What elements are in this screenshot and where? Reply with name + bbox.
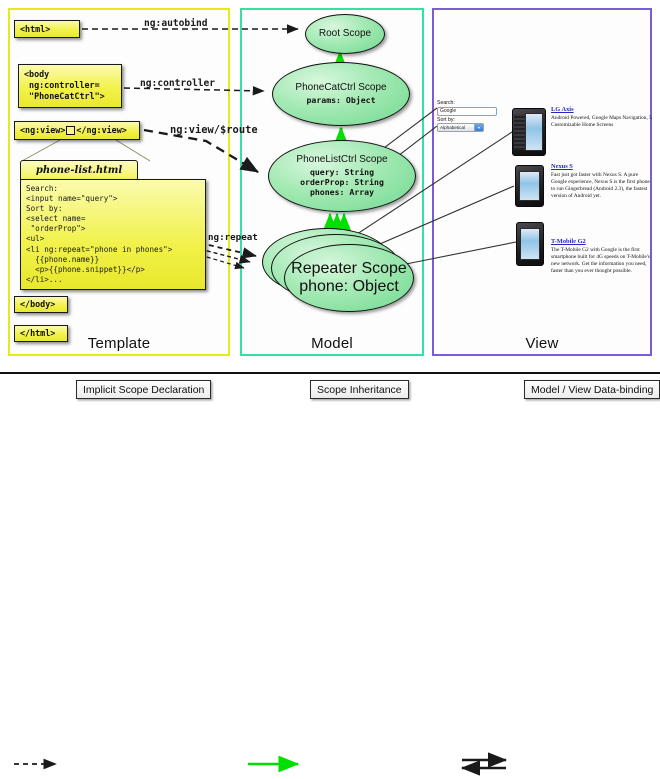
scope-phonecatctrl-title: PhoneCatCtrl Scope (295, 82, 386, 93)
edge-label-ng-repeat: ng:repeat (208, 232, 258, 243)
legend-label-data-binding: Model / View Data-binding (524, 380, 660, 399)
chevron-down-icon: ▾ (474, 124, 483, 131)
scope-phonecatctrl: PhoneCatCtrl Scope params: Object (272, 62, 410, 126)
phone-thumbnail-lg-axis (512, 108, 544, 154)
ngview-placeholder-icon (66, 126, 75, 135)
ngview-open-tag: <ng:view> (20, 125, 65, 136)
scope-phonelistctrl-props: query: String orderProp: String phones: … (300, 168, 384, 198)
phone-shell (515, 165, 544, 207)
legend-item-implicit-scope: Implicit Scope Declaration (14, 380, 211, 399)
legend-item-scope-inheritance: Scope Inheritance (248, 380, 409, 399)
scope-root: Root Scope (305, 14, 385, 54)
search-label: Search: (437, 100, 499, 107)
legend-double-arrow-icon (462, 760, 506, 768)
legend-spacer (14, 380, 72, 399)
file-card-phone-list: phone-list.html Search: <input name="que… (20, 160, 206, 290)
legend-spacer (248, 380, 306, 399)
edge-label-ng-autobind: ng:autobind (144, 18, 208, 29)
scope-repeater-stack: Repeater Scope phone: Object (262, 228, 416, 314)
phone-keyboard (514, 114, 525, 151)
phone-screen (519, 171, 540, 202)
phone-screen (525, 113, 543, 152)
code-box-html-close: </html> (14, 325, 68, 342)
scope-repeater-title: Repeater Scope (291, 260, 407, 278)
phone-list-item: T-Mobile G2 The T-Mobile G2 with Google … (551, 238, 655, 276)
phone-name-link[interactable]: Nexus S (551, 163, 655, 170)
legend-spacer (462, 380, 520, 399)
edge-label-ng-controller: ng:controller (140, 78, 215, 89)
scope-phonelistctrl-title: PhoneListCtrl Scope (296, 154, 387, 165)
code-box-ngview: <ng:view></ng:view> (14, 121, 140, 140)
phone-name-link[interactable]: T-Mobile G2 (551, 238, 655, 245)
phone-list-item: LG Axis Android Powered, Google Maps Nav… (551, 106, 655, 129)
scope-repeater-props: phone: Object (299, 278, 399, 296)
phone-snippet: Fast just got faster with Nexus S. A pur… (551, 172, 655, 201)
phone-shell (516, 222, 544, 266)
panel-view-label: View (434, 335, 650, 352)
phone-shell (512, 108, 546, 156)
file-card-code: Search: <input name="query"> Sort by: <s… (20, 179, 206, 290)
phone-snippet: Android Powered, Google Maps Navigation,… (551, 115, 655, 129)
sort-select-value: Alphabetical (440, 125, 465, 130)
diagram-root: Template Model View (0, 0, 660, 405)
legend-graphics (0, 374, 660, 779)
legend-label-implicit-scope: Implicit Scope Declaration (76, 380, 211, 399)
code-box-body-open: <body ng:controller= "PhoneCatCtrl"> (18, 64, 122, 108)
file-card-filename: phone-list.html (20, 160, 138, 180)
scope-phonelistctrl: PhoneListCtrl Scope query: String orderP… (268, 140, 416, 212)
phone-thumbnail-t-mobile-g2 (516, 222, 542, 264)
scope-repeater: Repeater Scope phone: Object (284, 244, 414, 312)
legend-label-scope-inheritance: Scope Inheritance (310, 380, 409, 399)
legend: Implicit Scope Declaration Scope Inherit… (0, 372, 660, 407)
scope-phonecatctrl-props: params: Object (306, 96, 375, 106)
phone-name-link[interactable]: LG Axis (551, 106, 655, 113)
edge-label-ng-view-route: ng:view/$route (170, 124, 258, 136)
phone-screen (520, 228, 541, 260)
panel-model-label: Model (242, 335, 422, 352)
phone-thumbnail-nexus-s (515, 165, 542, 205)
ngview-close-tag: </ng:view> (76, 125, 126, 136)
search-input[interactable]: Google (437, 107, 497, 116)
phone-snippet: The T-Mobile G2 with Google is the first… (551, 247, 655, 276)
view-search-form: Search: Google Sort by: Alphabetical ▾ (437, 100, 499, 132)
phone-list-item: Nexus S Fast just got faster with Nexus … (551, 163, 655, 201)
code-box-html-open: <html> (14, 20, 80, 38)
sort-select[interactable]: Alphabetical ▾ (437, 123, 484, 132)
legend-item-data-binding: Model / View Data-binding (462, 380, 660, 399)
scope-root-title: Root Scope (319, 28, 371, 39)
code-box-body-close: </body> (14, 296, 68, 313)
